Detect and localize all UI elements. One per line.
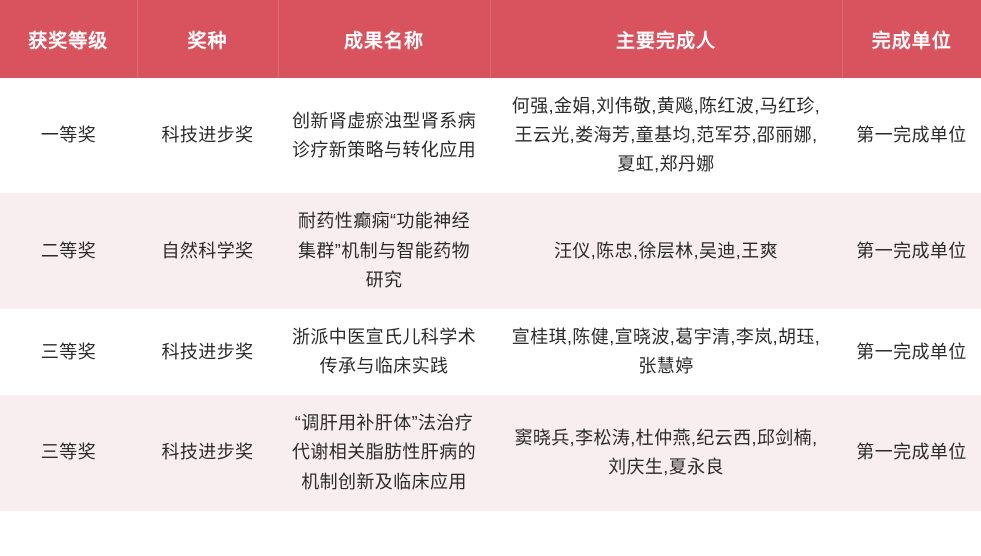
cell-type: 科技进步奖	[137, 309, 278, 395]
cell-type: 自然科学奖	[137, 193, 278, 308]
column-header-unit: 完成单位	[842, 0, 981, 78]
cell-unit: 第一完成单位	[842, 309, 981, 395]
column-header-title: 成果名称	[278, 0, 490, 78]
table-body: 一等奖 科技进步奖 创新肾虚瘀浊型肾系病诊疗新策略与转化应用 何强,金娟,刘伟敬…	[0, 78, 981, 511]
column-header-people: 主要完成人	[490, 0, 842, 78]
cell-grade: 二等奖	[0, 193, 137, 308]
table-header: 获奖等级 奖种 成果名称 主要完成人 完成单位	[0, 0, 981, 78]
cell-grade: 三等奖	[0, 309, 137, 395]
cell-people: 何强,金娟,刘伟敬,黄飚,陈红波,马红珍,王云光,娄海芳,童基均,范军芬,邵丽娜…	[490, 78, 842, 193]
table-row: 三等奖 科技进步奖 “调肝用补肝体”法治疗代谢相关脂肪性肝病的机制创新及临床应用…	[0, 395, 981, 510]
column-header-grade: 获奖等级	[0, 0, 137, 78]
cell-grade: 三等奖	[0, 395, 137, 510]
cell-title: 耐药性癫痫“功能神经集群”机制与智能药物研究	[278, 193, 490, 308]
cell-grade: 一等奖	[0, 78, 137, 193]
cell-type: 科技进步奖	[137, 78, 278, 193]
cell-title: “调肝用补肝体”法治疗代谢相关脂肪性肝病的机制创新及临床应用	[278, 395, 490, 510]
table-row: 一等奖 科技进步奖 创新肾虚瘀浊型肾系病诊疗新策略与转化应用 何强,金娟,刘伟敬…	[0, 78, 981, 193]
cell-title: 浙派中医宣氏儿科学术传承与临床实践	[278, 309, 490, 395]
cell-people: 窦晓兵,李松涛,杜仲燕,纪云西,邱剑楠,刘庆生,夏永良	[490, 395, 842, 510]
cell-title: 创新肾虚瘀浊型肾系病诊疗新策略与转化应用	[278, 78, 490, 193]
column-header-type: 奖种	[137, 0, 278, 78]
cell-unit: 第一完成单位	[842, 193, 981, 308]
cell-people: 宣桂琪,陈健,宣晓波,葛宇清,李岚,胡珏,张慧婷	[490, 309, 842, 395]
cell-type: 科技进步奖	[137, 395, 278, 510]
cell-unit: 第一完成单位	[842, 395, 981, 510]
table-row: 二等奖 自然科学奖 耐药性癫痫“功能神经集群”机制与智能药物研究 汪仪,陈忠,徐…	[0, 193, 981, 308]
cell-people: 汪仪,陈忠,徐层林,吴迪,王爽	[490, 193, 842, 308]
cell-unit: 第一完成单位	[842, 78, 981, 193]
table-header-row: 获奖等级 奖种 成果名称 主要完成人 完成单位	[0, 0, 981, 78]
table-row: 三等奖 科技进步奖 浙派中医宣氏儿科学术传承与临床实践 宣桂琪,陈健,宣晓波,葛…	[0, 309, 981, 395]
award-results-table: 获奖等级 奖种 成果名称 主要完成人 完成单位 一等奖 科技进步奖 创新肾虚瘀浊…	[0, 0, 981, 511]
